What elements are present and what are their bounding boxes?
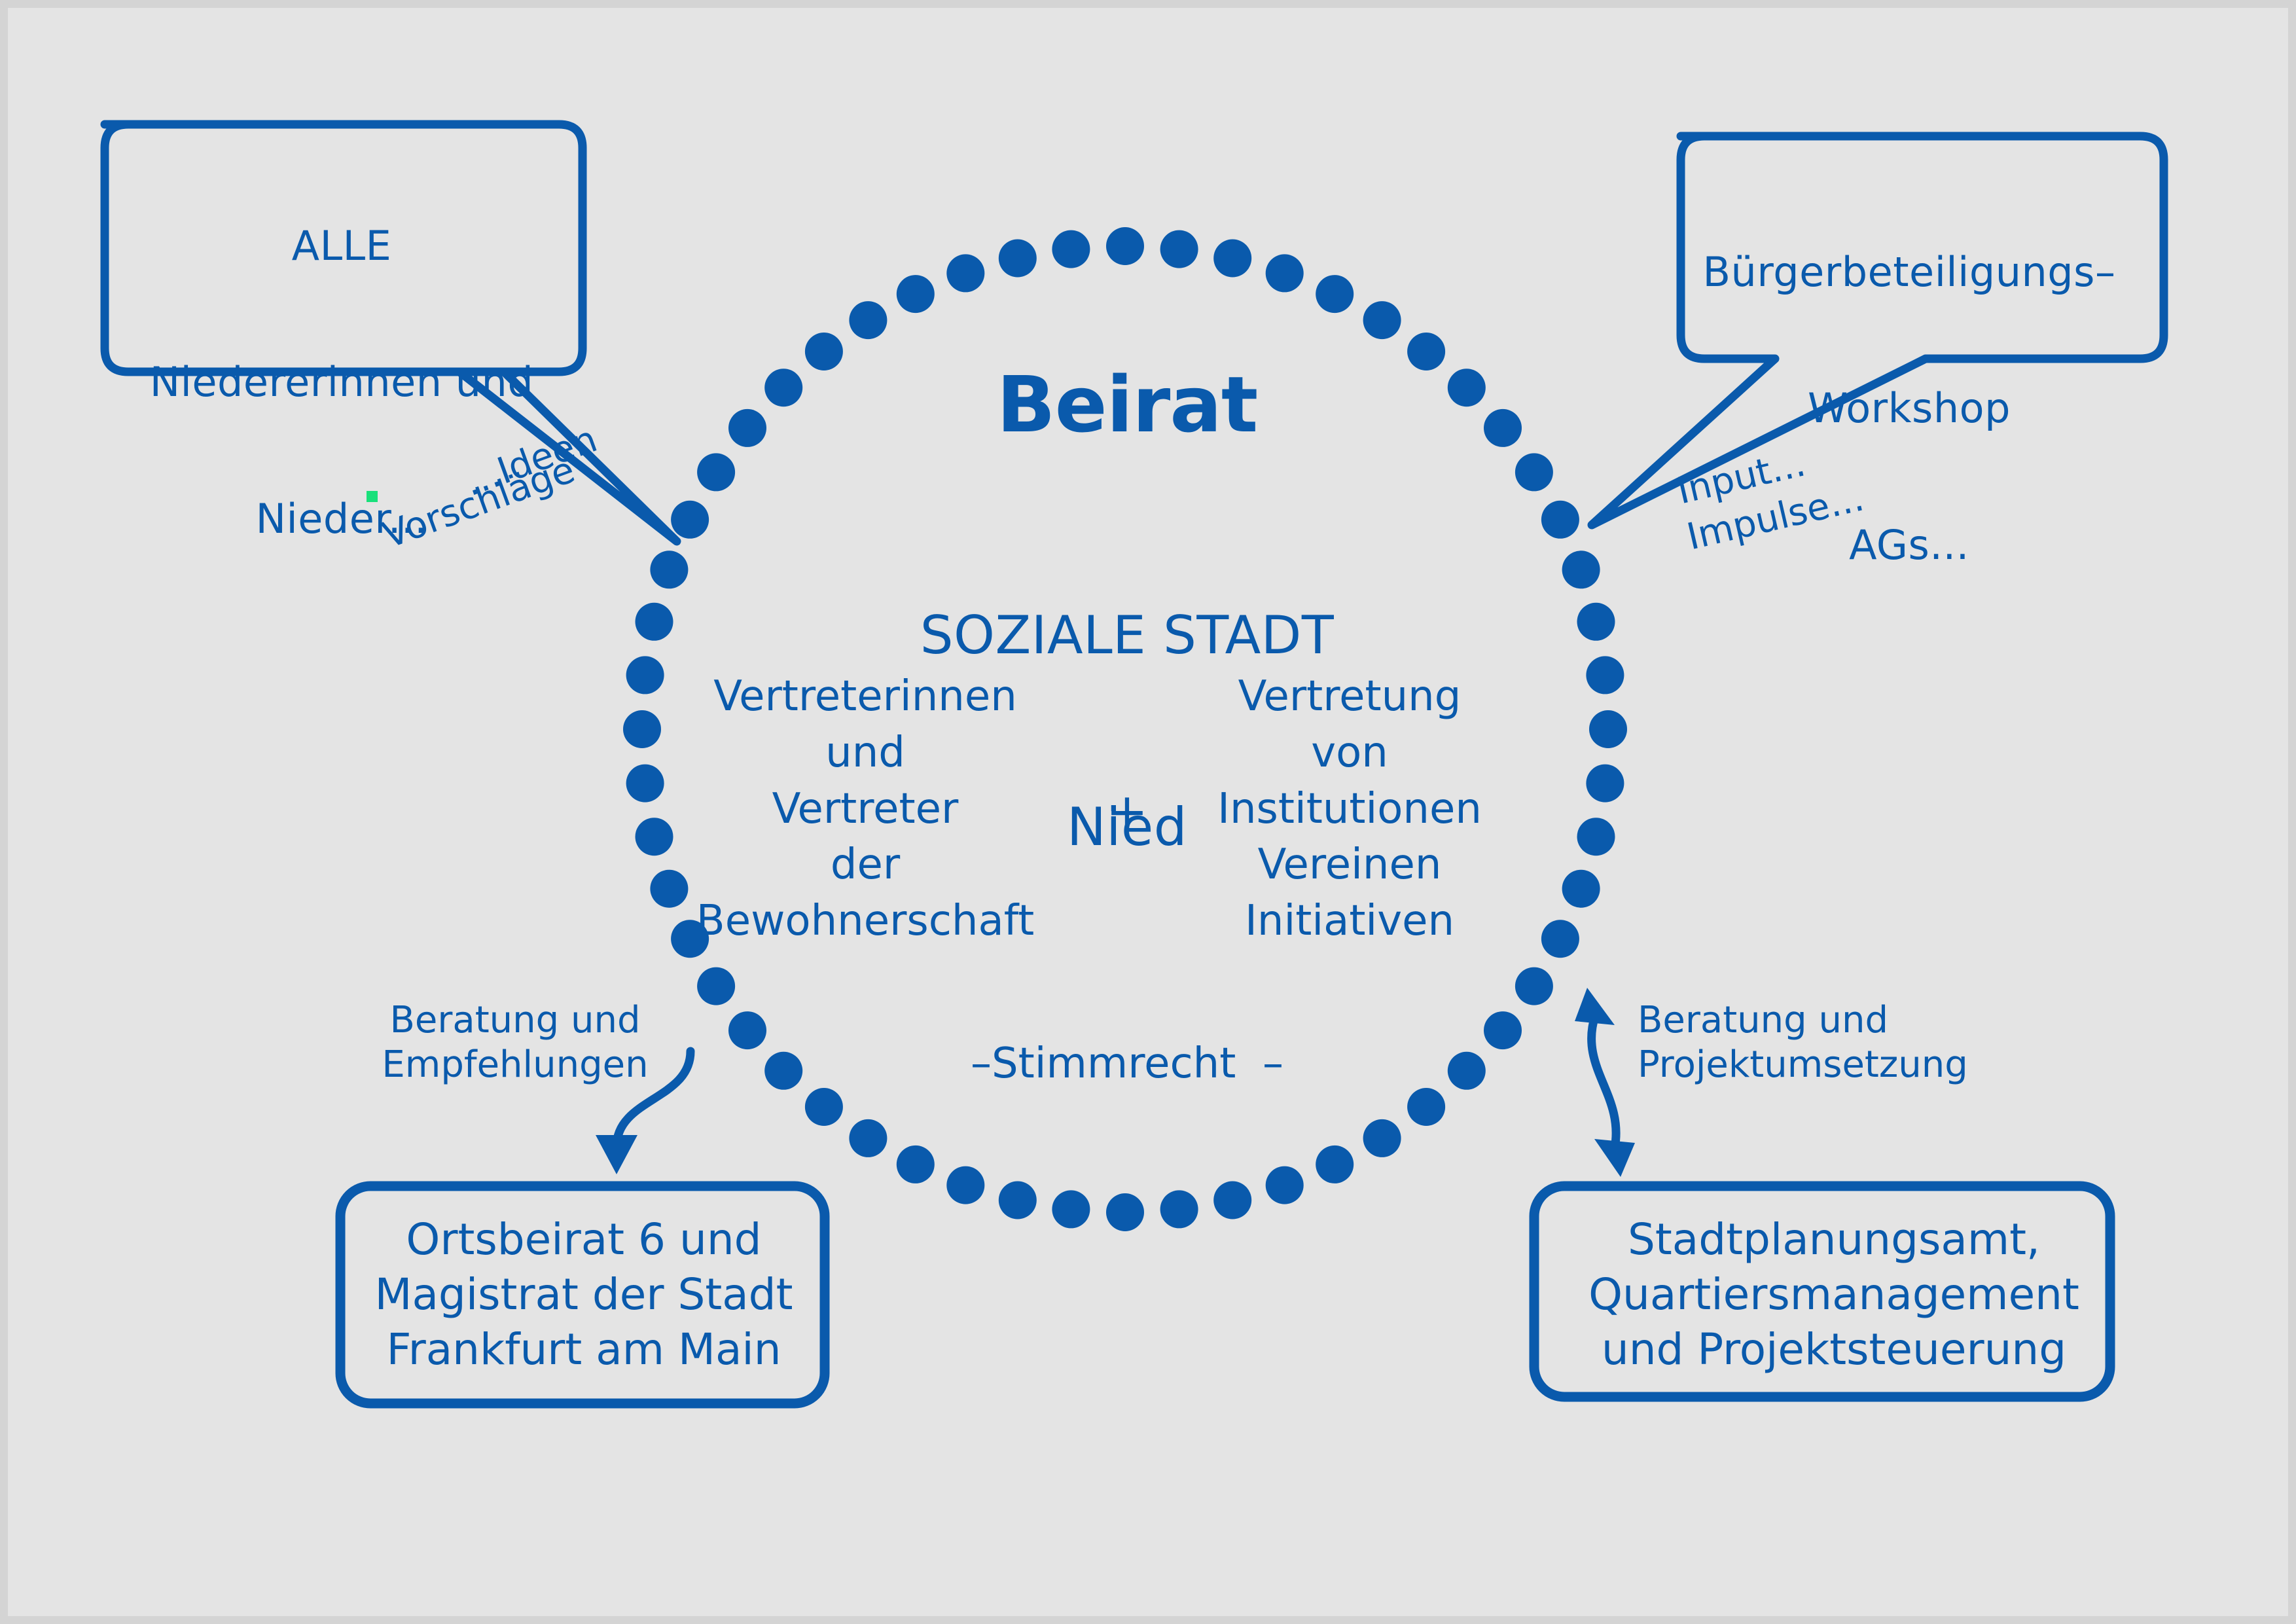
circle-dot: [1363, 301, 1401, 339]
circle-dot: [650, 550, 688, 588]
arrow-right-double: [1575, 988, 1635, 1177]
circle-dot: [897, 275, 935, 313]
bottom-right-box-text: Stadtplanungsamt, Quartiersmanagement un…: [1549, 1212, 2119, 1377]
circle-dot: [626, 656, 664, 694]
circle-dot: [1484, 1011, 1522, 1049]
circle-dot: [1586, 656, 1624, 694]
circle-dot: [1407, 1088, 1445, 1126]
circle-dot: [1213, 240, 1251, 278]
circle-dot: [728, 1011, 766, 1049]
circle-dot: [1106, 227, 1144, 265]
circle-dot: [1541, 920, 1579, 958]
circle-dot: [1515, 967, 1553, 1005]
circle-dot: [1052, 1190, 1090, 1228]
circle-dot: [1266, 1166, 1304, 1204]
bubble-left-line-1: ALLE: [106, 223, 577, 268]
label-beratung-projektumsetzung: Beratung und Projektumsetzung: [1638, 998, 1965, 1088]
page-subtitle-line-1: SOZIALE STADT: [774, 604, 1480, 668]
circle-dot: [897, 1146, 935, 1183]
page-title: Beirat: [774, 361, 1480, 448]
members-column-institutions: Vertretung von Institutionen Vereinen In…: [1179, 669, 1520, 950]
circle-dot: [697, 453, 735, 491]
circle-dot: [999, 1182, 1037, 1219]
circle-dot: [1213, 1182, 1251, 1219]
circle-dot: [1484, 409, 1522, 447]
circle-dot: [1515, 453, 1553, 491]
circle-dot: [1160, 1190, 1198, 1228]
plus-sign: +: [1081, 784, 1173, 839]
circle-dot: [1586, 765, 1624, 803]
circle-dot: [1160, 230, 1198, 268]
circle-dot: [1363, 1119, 1401, 1157]
bubble-right-line-2: Workshop: [1674, 386, 2145, 431]
circle-dot: [626, 765, 664, 803]
circle-dot: [1266, 254, 1304, 292]
circle-dot: [1577, 603, 1615, 641]
circle-dot: [636, 603, 673, 641]
circle-dot: [728, 409, 766, 447]
label-beratung-empfehlungen: Beratung und Empfehlungen: [374, 998, 656, 1088]
circle-dot: [999, 240, 1037, 278]
circle-dot: [1562, 550, 1600, 588]
circle-dot: [1052, 230, 1090, 268]
circle-dot: [805, 1088, 843, 1126]
circle-dot: [1448, 1052, 1486, 1090]
circle-dot: [636, 818, 673, 856]
speech-bubble-left-text: ALLE Niedererinnen und Nieder...: [106, 132, 577, 632]
diagram-canvas: ALLE Niedererinnen und Nieder... Bürgerb…: [0, 0, 2296, 1624]
circle-dot: [1577, 818, 1615, 856]
green-marker-dot: [367, 491, 378, 502]
circle-dot: [671, 501, 709, 539]
circle-dot: [697, 967, 735, 1005]
circle-dot: [946, 254, 984, 292]
circle-dot: [946, 1166, 984, 1204]
circle-dot: [764, 1052, 802, 1090]
speech-bubble-right-text: Bürgerbeteiligungs– Workshop AGs...: [1674, 158, 2145, 659]
members-column-residents: Vertreterinnen und Vertreter der Bewohne…: [682, 669, 1049, 950]
circle-dot: [1562, 870, 1600, 908]
circle-dot: [1541, 501, 1579, 539]
circle-dot: [1106, 1193, 1144, 1231]
bottom-left-box-text: Ortsbeirat 6 und Magistrat der Stadt Fra…: [348, 1212, 819, 1377]
bubble-right-line-1: Bürgerbeteiligungs–: [1674, 249, 2145, 295]
circle-dot: [1316, 275, 1354, 313]
circle-dot: [849, 1119, 887, 1157]
circle-dot: [1316, 1146, 1354, 1183]
voting-rights-note: –Stimmrecht –: [872, 1041, 1382, 1088]
circle-dot: [1589, 710, 1627, 748]
circle-dot: [849, 301, 887, 339]
bubble-left-line-2: Niedererinnen und: [106, 359, 577, 405]
circle-dot: [623, 710, 661, 748]
